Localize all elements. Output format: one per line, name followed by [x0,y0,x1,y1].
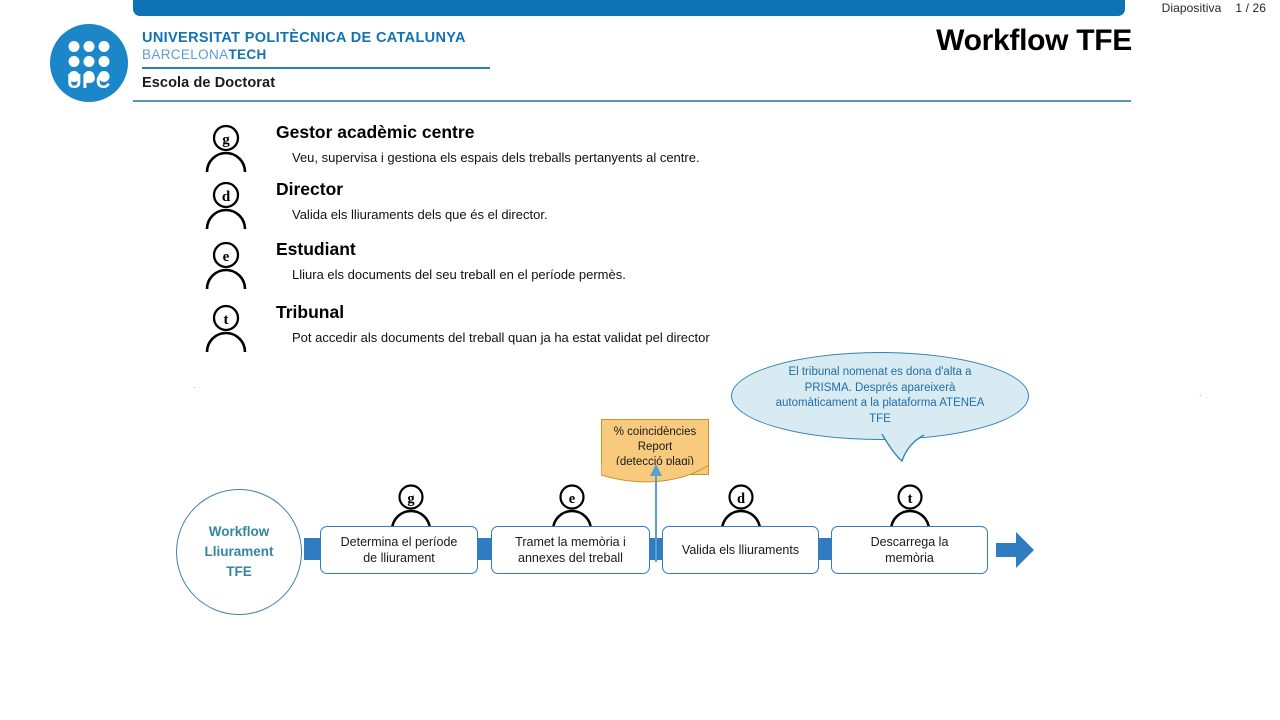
slide-counter: Diapositiva1 / 26 [1162,1,1266,15]
brand-divider [142,67,490,69]
top-accent-bar [133,0,1125,16]
role-description: Lliura els documents del seu treball en … [292,265,932,285]
role-name: Tribunal [276,302,344,323]
brand-barcelona: BARCELONA [142,47,228,62]
workflow-end-arrow-icon [996,526,1034,574]
person-icon-t: t [200,304,252,352]
page-title: Workflow TFE [936,24,1132,58]
brand-university-name: UNIVERSITAT POLITÈCNICA DE CATALUNYA [142,30,502,46]
workflow-person-icon-g: g [386,484,436,530]
role-name: Director [276,179,343,200]
workflow-step-label: Determina el període de lliurament [329,534,470,566]
workflow-step-label: Valida els lliuraments [670,542,811,558]
workflow-step-line-2: memòria [879,551,940,565]
workflow-person-icon-d: d [716,484,766,530]
workflow-step-line-1: Valida els lliuraments [676,543,805,557]
upc-logo-wordmark: UPC [50,71,128,94]
note-uplink-arrow-icon [649,462,663,562]
callout-bubble: El tribunal nomenat es dona d'alta a PRI… [731,352,1029,440]
workflow-person-letter: d [737,491,745,507]
workflow-person-icon-t: t [885,484,935,530]
workflow-step-line-1: Determina el període [335,535,464,549]
workflow-step-tramet[interactable]: Tramet la memòria i annexes del treball [491,526,650,574]
brand-block: UNIVERSITAT POLITÈCNICA DE CATALUNYA BAR… [142,30,502,91]
brand-school-name: Escola de Doctorat [142,75,502,91]
brand-barcelonatech: BARCELONATECH [142,47,502,62]
note-line-2: Report [614,440,696,455]
left-anchor-dot: . [193,380,196,390]
workflow-step-descarrega[interactable]: Descarrega la memòria [831,526,988,574]
slide-canvas: Diapositiva1 / 26 Workflow TFE UPC UNIVE… [0,0,1280,720]
slide-counter-number: 1 / 26 [1235,1,1266,15]
person-icon-letter: e [223,249,230,265]
role-name: Estudiant [276,239,356,260]
workflow-person-letter: e [569,491,576,507]
workflow-step-valida[interactable]: Valida els lliuraments [662,526,819,574]
workflow-step-line-2: de lliurament [357,551,441,565]
workflow-step-line-2: annexes del treball [512,551,629,565]
workflow-step-label: Tramet la memòria i annexes del treball [503,534,638,566]
workflow-person-letter: g [407,491,415,507]
person-icon-letter: g [222,132,230,148]
callout-text: El tribunal nomenat es dona d'alta a PRI… [772,365,988,427]
brand-tech: TECH [228,47,266,62]
workflow-step-line-1: Descarrega la [865,535,955,549]
person-icon-e: e [200,241,252,289]
workflow-step-determina[interactable]: Determina el període de lliurament [320,526,478,574]
header-divider [133,100,1131,102]
upc-logo-badge: UPC [50,24,128,102]
workflow-person-letter: t [908,491,913,507]
person-icon-letter: d [222,189,231,205]
person-icon-d: d [200,181,252,229]
workflow-step-line-1: Tramet la memòria i [509,535,632,549]
workflow-step-label: Descarrega la memòria [859,534,961,566]
note-line-1: % coincidències [614,425,696,440]
role-description: Veu, supervisa i gestiona els espais del… [292,148,932,168]
person-icon-letter: t [224,312,229,328]
workflow-start-line-1: Workflow [209,524,270,539]
person-icon-g: g [200,124,252,172]
workflow-start-label: Workflow Lliurament TFE [204,522,273,582]
workflow-person-icon-e: e [547,484,597,530]
right-anchor-dot: . [1199,388,1202,398]
slide-counter-label: Diapositiva [1162,1,1222,15]
workflow-start-circle: Workflow Lliurament TFE [176,489,302,615]
workflow-start-line-2: Lliurament [204,544,273,559]
callout-tail-icon [880,432,928,462]
role-name: Gestor acadèmic centre [276,122,474,143]
role-description: Pot accedir als documents del treball qu… [292,328,722,348]
role-description: Valida els lliuraments dels que és el di… [292,205,932,225]
workflow-start-line-3: TFE [226,564,252,579]
